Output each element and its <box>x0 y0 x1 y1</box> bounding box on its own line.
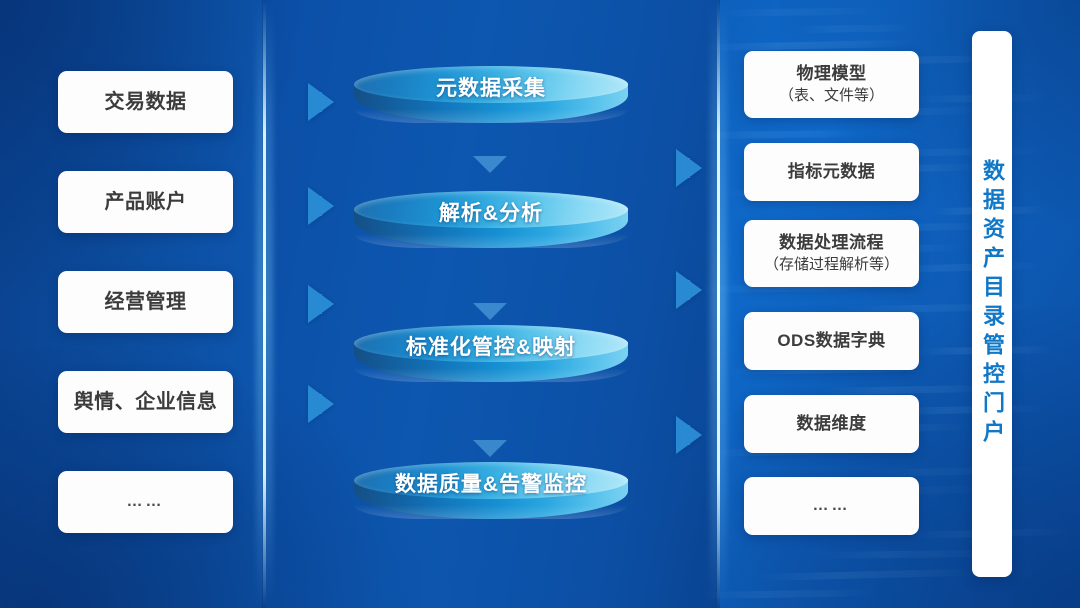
output-card-label-primary: 物理模型 <box>797 63 867 86</box>
source-card-product-account[interactable]: 产品账户 <box>58 171 233 233</box>
background-vignette-top-left <box>0 0 300 300</box>
output-card-label-primary: 数据维度 <box>797 413 867 436</box>
arrow-right-icon <box>676 271 702 309</box>
output-card-ods-data-dictionary[interactable]: ODS数据字典 <box>744 312 919 370</box>
pipeline-stage-standardization-mapping[interactable]: 标准化管控&映射 <box>354 325 628 399</box>
arrow-right-icon <box>676 416 702 454</box>
divider-line-left <box>263 0 266 608</box>
arrow-right-icon <box>308 285 334 323</box>
output-card-physical-model[interactable]: 物理模型 （表、文件等） <box>744 51 919 118</box>
output-card-metric-metadata[interactable]: 指标元数据 <box>744 143 919 201</box>
source-card-more[interactable]: …… <box>58 471 233 533</box>
arrow-down-icon <box>473 156 507 173</box>
source-card-label: 产品账户 <box>105 189 187 216</box>
output-card-label-primary: …… <box>813 495 851 516</box>
arrow-down-icon <box>473 440 507 457</box>
source-card-business-management[interactable]: 经营管理 <box>58 271 233 333</box>
output-card-label-primary: 数据处理流程 <box>779 232 884 255</box>
pipeline-stage-parse-analyze[interactable]: 解析&分析 <box>354 191 628 265</box>
output-card-label-primary: ODS数据字典 <box>777 330 885 353</box>
divider-core <box>263 0 266 608</box>
source-card-label: 舆情、企业信息 <box>74 389 218 416</box>
arrow-right-icon <box>308 83 334 121</box>
output-card-data-processing-flow[interactable]: 数据处理流程 （存储过程解析等） <box>744 220 919 287</box>
source-card-label: 交易数据 <box>105 89 187 116</box>
source-card-label: …… <box>127 491 165 512</box>
pipeline-stage-data-quality-alert-monitoring[interactable]: 数据质量&告警监控 <box>354 462 628 536</box>
diagram-canvas: 交易数据 产品账户 经营管理 舆情、企业信息 …… 元数据采集 解析&分析 标准… <box>0 0 1080 608</box>
divider-line-right <box>717 0 720 608</box>
output-card-more[interactable]: …… <box>744 477 919 535</box>
arrow-right-icon <box>308 385 334 423</box>
pipeline-stage-label: 数据质量&告警监控 <box>354 468 628 498</box>
pipeline-stage-label: 元数据采集 <box>354 72 628 102</box>
portal-label: 数据资产目录管控门户 <box>981 159 1003 449</box>
source-card-label: 经营管理 <box>105 289 187 316</box>
pipeline-stage-metadata-collection[interactable]: 元数据采集 <box>354 66 628 140</box>
output-card-label-primary: 指标元数据 <box>788 161 876 184</box>
arrow-right-icon <box>676 149 702 187</box>
output-card-data-dimension[interactable]: 数据维度 <box>744 395 919 453</box>
source-card-transaction-data[interactable]: 交易数据 <box>58 71 233 133</box>
source-card-public-opinion-enterprise-info[interactable]: 舆情、企业信息 <box>58 371 233 433</box>
arrow-down-icon <box>473 303 507 320</box>
pipeline-stage-label: 解析&分析 <box>354 197 628 227</box>
output-card-label-secondary: （表、文件等） <box>779 86 884 106</box>
pipeline-stage-label: 标准化管控&映射 <box>354 331 628 361</box>
output-card-label-secondary: （存储过程解析等） <box>764 255 899 275</box>
portal-panel[interactable]: 数据资产目录管控门户 <box>972 31 1012 577</box>
arrow-right-icon <box>308 187 334 225</box>
divider-core <box>717 0 720 608</box>
